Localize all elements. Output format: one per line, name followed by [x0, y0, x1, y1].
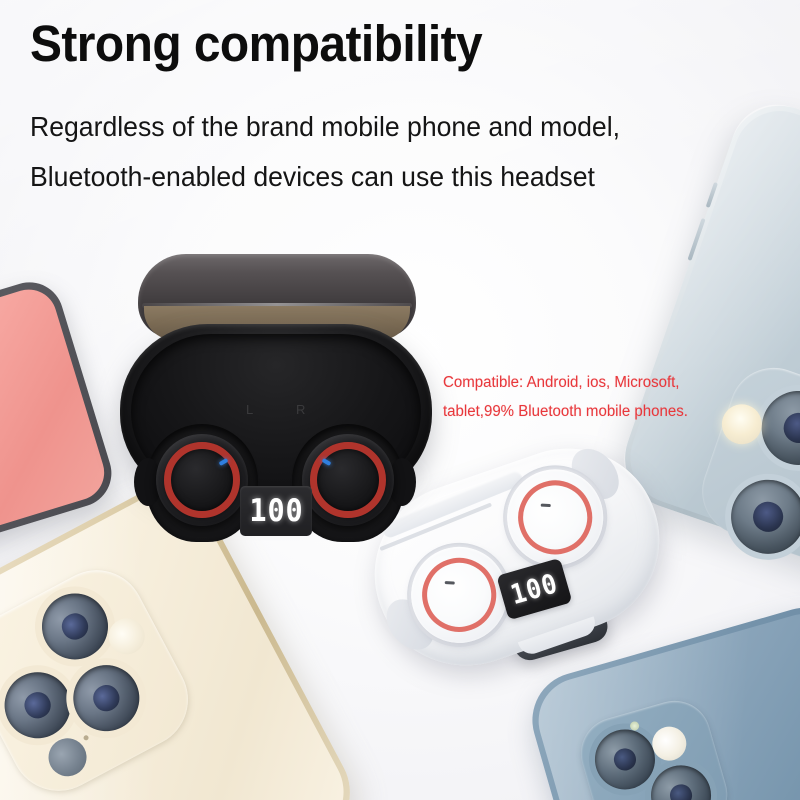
product-marketing-banner: 100 L R [0, 0, 800, 800]
white-case-battery-value: 100 [508, 570, 561, 609]
earbud-label-right: R [296, 402, 306, 417]
earbud-led-indicator-icon [445, 581, 455, 585]
subtitle-line-1: Regardless of the brand mobile phone and… [30, 110, 620, 144]
camera-lens-icon [30, 582, 119, 671]
earbud-red-ring [310, 442, 386, 518]
white-case-battery-display: 100 [496, 558, 572, 620]
camera-lens-icon [644, 758, 718, 800]
compatibility-note-line-1: Compatible: Android, ios, Microsoft, [443, 368, 688, 397]
compatibility-note-line-2: tablet,99% Bluetooth mobile phones. [443, 397, 688, 426]
phone-pink-gloss [0, 283, 45, 542]
earbud-red-ring [412, 548, 506, 642]
camera-lens-icon [62, 654, 151, 743]
subtitle-line-2: Bluetooth-enabled devices can use this h… [30, 160, 595, 194]
camera-lens-icon [0, 661, 82, 750]
black-case-battery-value: 100 [249, 496, 303, 527]
earbud-led-indicator-icon [541, 504, 551, 508]
earbud-case-black: L R 100 [120, 252, 432, 502]
earbud-red-ring [508, 470, 602, 564]
camera-flash-icon [102, 612, 151, 661]
page-title: Strong compatibility [30, 13, 482, 75]
compatibility-note: Compatible: Android, ios, Microsoft, tab… [443, 368, 688, 426]
earbud-red-ring [164, 442, 240, 518]
black-case-seam [276, 536, 277, 570]
earbud-black-left [156, 434, 248, 526]
camera-lens-icon [588, 722, 662, 796]
earbud-black-right [302, 434, 394, 526]
black-case-battery-display: 100 [240, 486, 312, 536]
earbud-label-left: L [246, 402, 254, 417]
microphone-icon [83, 734, 90, 741]
black-case-body: L R 100 [120, 324, 432, 500]
